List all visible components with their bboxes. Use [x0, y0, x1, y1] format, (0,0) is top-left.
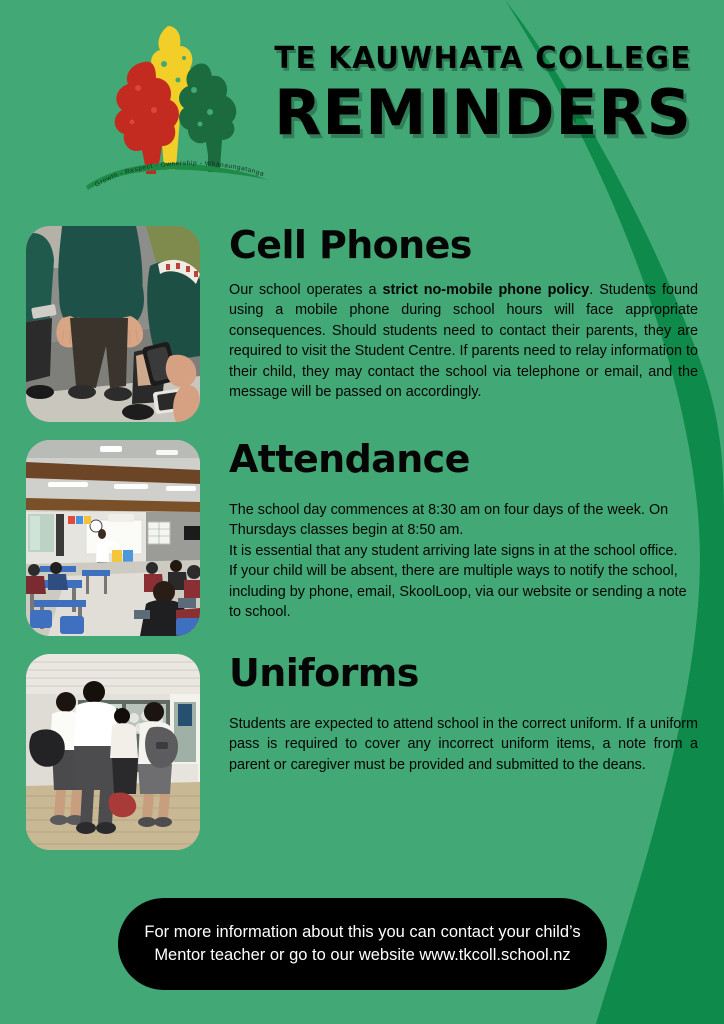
footer-contact-text: For more information about this you can … [118, 921, 607, 967]
photo-attendance-image [26, 440, 200, 636]
logo-tree-icon: Growth - Respect - Ownership - Whānaunga… [72, 18, 272, 200]
section-heading-attendance: Attendance [229, 440, 698, 480]
section-text-attendance: The school day commences at 8:30 am on f… [229, 500, 698, 623]
section-attendance: Attendance The school day commences at 8… [0, 440, 724, 636]
section-text-cell-phones: Our school operates a strict no-mobile p… [229, 280, 698, 403]
section-uniforms: Uniforms Students are expected to attend… [0, 654, 724, 850]
section-heading-cell-phones: Cell Phones [229, 226, 698, 266]
photo-cell-phones-image [26, 226, 200, 422]
section-heading-uniforms: Uniforms [229, 654, 698, 694]
section-cell-phones: Cell Phones Our school operates a strict… [0, 226, 724, 422]
photo-uniforms [26, 654, 200, 850]
section-body-attendance: Attendance The school day commences at 8… [200, 440, 724, 623]
photo-attendance [26, 440, 200, 636]
section-body-uniforms: Uniforms Students are expected to attend… [200, 654, 724, 775]
title-block: TE KAUWHATA COLLEGE REMINDERS [258, 44, 708, 145]
photo-uniforms-image [26, 654, 200, 850]
section-body-cell-phones: Cell Phones Our school operates a strict… [200, 226, 724, 403]
school-logo: Growth - Respect - Ownership - Whānaunga… [72, 18, 272, 200]
poster-root: Growth - Respect - Ownership - Whānaunga… [0, 0, 724, 1024]
footer-contact-banner[interactable]: For more information about this you can … [118, 898, 607, 990]
photo-cell-phones [26, 226, 200, 422]
page-title: REMINDERS [260, 80, 706, 145]
sections-container: Cell Phones Our school operates a strict… [0, 226, 724, 868]
poster-header: Growth - Respect - Ownership - Whānaunga… [0, 0, 724, 212]
school-name: TE KAUWHATA COLLEGE [265, 44, 702, 74]
section-text-uniforms: Students are expected to attend school i… [229, 714, 698, 775]
